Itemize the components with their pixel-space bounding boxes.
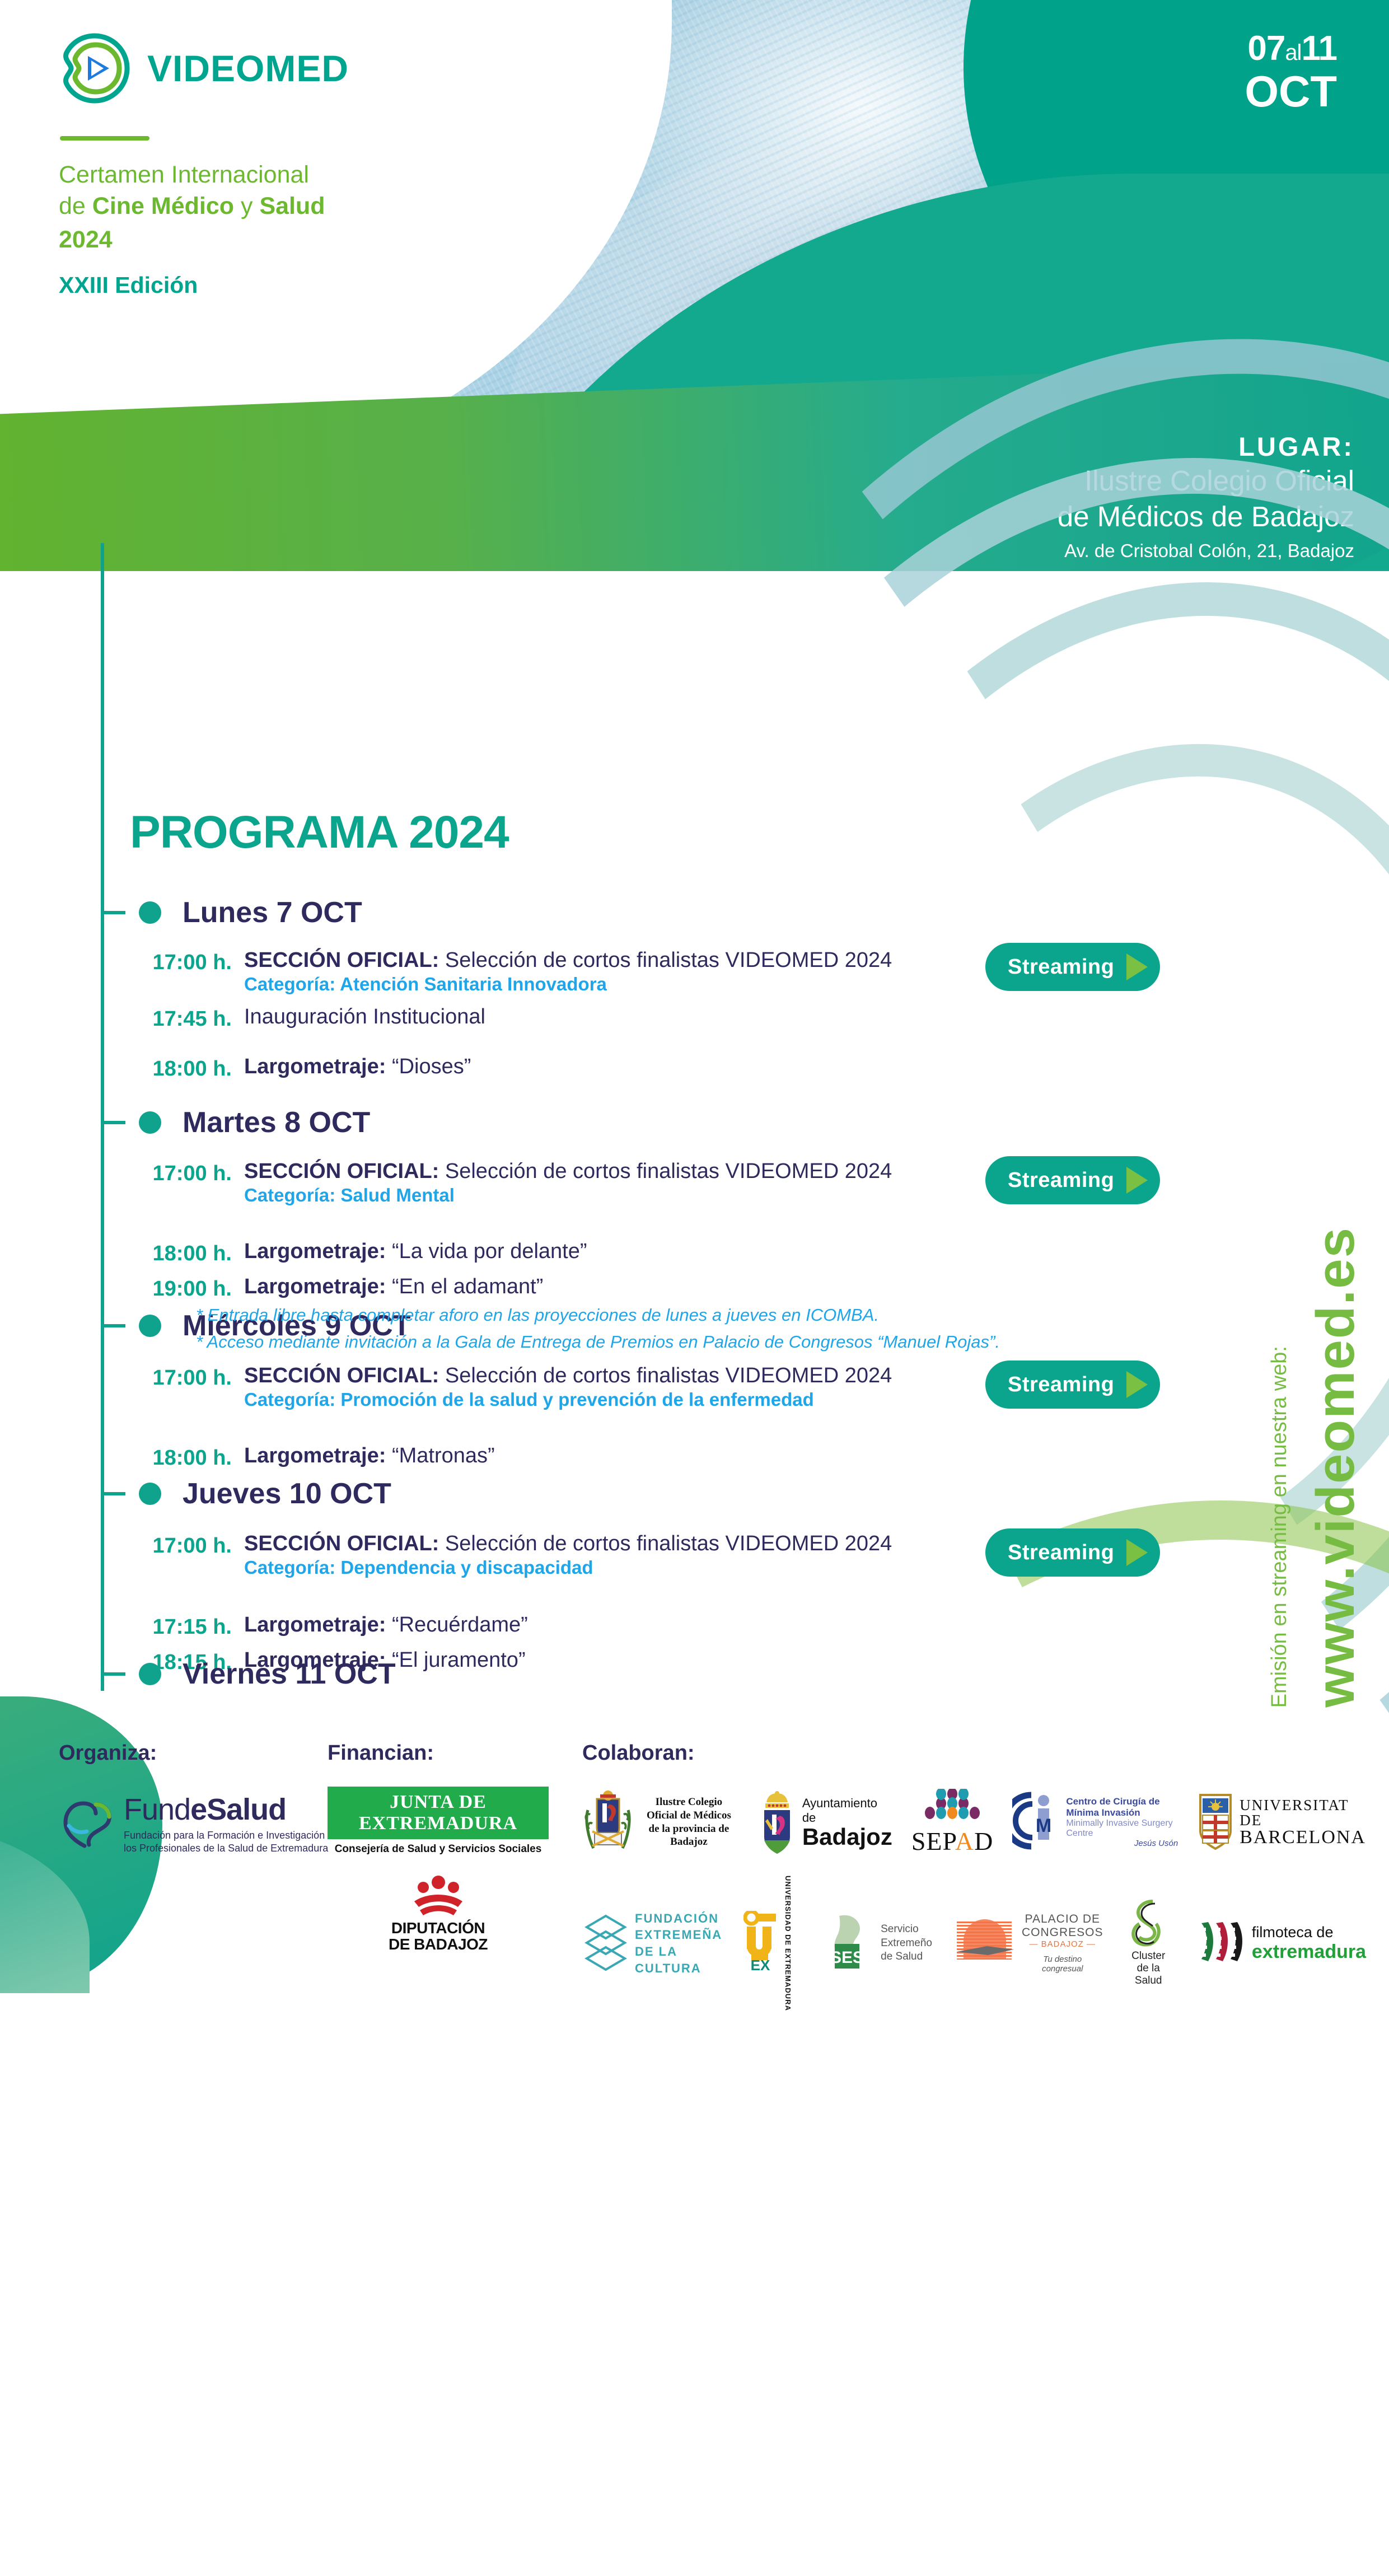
day-block-jueves: Jueves 10 OCT 17:00 h. SECCIÓN OFICIAL: … — [113, 1477, 892, 1675]
row-time: 17:00 h. — [113, 1160, 232, 1186]
ses-logo: SES Servicio Extremeño de Salud — [830, 1913, 932, 1974]
tagline-edition: XXIII Edición — [59, 270, 462, 300]
row-desc-text: “En el adamant” — [386, 1275, 543, 1298]
timeline-dot — [139, 1483, 161, 1505]
fundesalud-sub-1: Fundación para la Formación e Investigac… — [124, 1829, 339, 1842]
row-desc: SECCIÓN OFICIAL: Selección de cortos fin… — [244, 1532, 892, 1578]
row-desc-text: “Matronas” — [386, 1444, 494, 1467]
videomed-logo: VIDEOMED — [59, 32, 349, 104]
row-desc-bold: SECCIÓN OFICIAL: — [244, 1364, 439, 1387]
logo-divider-rule — [60, 136, 149, 141]
day-header: Lunes 7 OCT — [113, 896, 892, 929]
schedule-row: 18:00 h. Largometraje: “La vida por dela… — [113, 1240, 892, 1266]
day-header: Jueves 10 OCT — [113, 1477, 892, 1511]
badajoz-crest-icon — [757, 1788, 797, 1857]
row-time: 18:00 h. — [113, 1055, 232, 1081]
fundacion-extremena-cultura-logo: FUNDACIÓN EXTREMEÑA DE LA CULTURA — [582, 1910, 722, 1977]
ub-line-1: UNIVERSITAT DE — [1240, 1798, 1366, 1828]
row-desc-text: “Recuérdame” — [386, 1613, 527, 1637]
day-rows: 17:00 h. SECCIÓN OFICIAL: Selección de c… — [113, 1160, 892, 1301]
day-rows: 17:00 h. SECCIÓN OFICIAL: Selección de c… — [113, 1364, 892, 1470]
ses-line-1: Servicio — [881, 1923, 932, 1937]
ayuntamiento-line-2: Badajoz — [802, 1825, 892, 1849]
row-desc-bold: SECCIÓN OFICIAL: — [244, 1532, 439, 1555]
row-time: 18:00 h. — [113, 1444, 232, 1470]
ub-crest-icon — [1197, 1792, 1234, 1853]
ses-mark-icon: SES — [830, 1913, 875, 1974]
row-desc-bold: Largometraje: — [244, 1613, 386, 1637]
fec-mark-icon — [582, 1913, 629, 1974]
note-1: * Entrada libre hasta completar aforo en… — [196, 1302, 1000, 1329]
row-desc-text: Selección de cortos finalistas VIDEOMED … — [439, 1364, 892, 1387]
row-time: 17:00 h. — [113, 1364, 232, 1390]
row-desc-bold: Largometraje: — [244, 1240, 386, 1263]
program-timeline-line — [101, 543, 104, 1691]
junta-title: JUNTA DE EXTREMADURA — [328, 1787, 549, 1839]
icomba-line-2: de la provincia de Badajoz — [639, 1822, 738, 1849]
filmoteca-line-2: extremadura — [1252, 1941, 1366, 1963]
cluster-caption: Cluster de la Salud — [1125, 1950, 1172, 1987]
colaboran-row-2: FUNDACIÓN EXTREMEÑA DE LA CULTURA EX — [582, 1876, 1366, 2011]
diputacion-mark-icon — [402, 1910, 475, 1919]
palacio-mark-icon — [953, 1915, 1016, 1971]
organiza-column: Organiza: FundeSalud Fundación para la F… — [59, 1741, 339, 1854]
icomba-line-1: Ilustre Colegio Oficial de Médicos — [639, 1796, 738, 1822]
row-category: Categoría: Promoción de la salud y preve… — [244, 1389, 892, 1410]
row-desc-text: Selección de cortos finalistas VIDEOMED … — [439, 1532, 892, 1555]
cluster-mark-icon — [1126, 1940, 1171, 1949]
day-header: Martes 8 OCT — [113, 1106, 892, 1139]
sepad-wordmark: SEPAD — [911, 1826, 994, 1856]
diputacion-line-2: DE BADAJOZ — [328, 1936, 549, 1952]
colaboran-column: Colaboran: — [582, 1741, 1366, 2011]
schedule-row: 17:15 h. Largometraje: “Recuérdame” — [113, 1613, 892, 1639]
day-block-martes: Martes 8 OCT 17:00 h. SECCIÓN OFICIAL: S… — [113, 1106, 892, 1301]
palacio-line-2: — BADAJOZ — — [1022, 1939, 1103, 1949]
fundesalud-sub-2: los Profesionales de la Salud de Extrema… — [124, 1842, 339, 1855]
row-desc-bold: Largometraje: — [244, 1055, 386, 1078]
icomba-caption: Ilustre Colegio Oficial de Médicos de la… — [639, 1796, 738, 1849]
fundesalud-mark-icon — [59, 1794, 117, 1853]
filmoteca-text: filmoteca de extremadura — [1252, 1924, 1366, 1963]
row-desc-bold: Largometraje: — [244, 1275, 386, 1298]
row-desc: Largometraje: “Recuérdame” — [244, 1613, 528, 1637]
palacio-text: PALACIO DE CONGRESOS — BADAJOZ — Tu dest… — [1022, 1913, 1103, 1974]
ayuntamiento-badajoz-logo: Ayuntamiento de Badajoz — [757, 1788, 892, 1857]
timeline-dash — [101, 1672, 125, 1676]
palacio-line-1: PALACIO DE CONGRESOS — [1022, 1913, 1103, 1939]
note-2: * Acceso mediante invitación a la Gala d… — [196, 1329, 1000, 1355]
streaming-label: Streaming — [1008, 1541, 1114, 1565]
financian-label: Financian: — [328, 1741, 549, 1765]
streaming-badge[interactable]: Streaming — [985, 1528, 1160, 1577]
day-header: Viernes 11 OCT — [113, 1657, 760, 1691]
ccmi-line-3: Jesús Usón — [1066, 1839, 1178, 1848]
ccmi-line-2: Minimally Invasive Surgery Centre — [1066, 1818, 1178, 1839]
ccmi-text: Centro de Cirugía de Mínima Invasión Min… — [1066, 1796, 1178, 1848]
schedule-row: 17:00 h. SECCIÓN OFICIAL: Selección de c… — [113, 948, 892, 995]
event-dates: 07al11 OCT — [1245, 31, 1337, 113]
fundesalud-logo: FundeSalud Fundación para la Formación e… — [59, 1792, 339, 1854]
play-icon — [1126, 953, 1148, 980]
uex-mark-icon: EX — [743, 1911, 778, 1975]
website-url[interactable]: www.videomed.es — [1305, 1227, 1367, 1708]
row-category: Categoría: Atención Sanitaria Innovadora — [244, 974, 892, 995]
row-desc: SECCIÓN OFICIAL: Selección de cortos fin… — [244, 948, 892, 995]
svg-text:M: M — [1036, 1815, 1051, 1836]
ses-line-2: Extremeño — [881, 1937, 932, 1951]
play-icon — [1126, 1371, 1148, 1398]
icomba-crest-icon — [582, 1788, 634, 1857]
date-range: 07al11 — [1245, 31, 1337, 66]
page-title: PROGRAMA 2024 — [130, 806, 509, 859]
day-block-lunes: Lunes 7 OCT 17:00 h. SECCIÓN OFICIAL: Se… — [113, 896, 892, 1081]
tagline-line-2: de Cine Médico y Salud — [59, 191, 462, 222]
schedule-row: 17:00 h. SECCIÓN OFICIAL: Selección de c… — [113, 1532, 892, 1578]
row-time: 17:00 h. — [113, 1532, 232, 1558]
fundesalud-text: FundeSalud Fundación para la Formación e… — [124, 1792, 339, 1854]
timeline-dot — [139, 1663, 161, 1685]
financian-column: Financian: JUNTA DE EXTREMADURA Consejer… — [328, 1741, 549, 1953]
fec-line-1: FUNDACIÓN — [635, 1910, 722, 1927]
row-time: 17:15 h. — [113, 1613, 232, 1639]
diputacion-line-1: DIPUTACIÓN — [328, 1920, 549, 1936]
schedule-row: 17:00 h. SECCIÓN OFICIAL: Selección de c… — [113, 1364, 892, 1410]
streaming-label: Streaming — [1008, 955, 1114, 979]
ayuntamiento-line-1: Ayuntamiento de — [802, 1796, 892, 1825]
program-notes: * Entrada libre hasta completar aforo en… — [196, 1302, 1000, 1355]
timeline-dot — [139, 901, 161, 924]
filmoteca-mark-icon — [1194, 1918, 1246, 1969]
fec-text: FUNDACIÓN EXTREMEÑA DE LA CULTURA — [635, 1910, 722, 1977]
ccmi-logo: M Centro de Cirugía de Mínima Invasión M… — [1012, 1792, 1178, 1853]
date-month: OCT — [1245, 69, 1337, 113]
timeline-dot — [139, 1315, 161, 1337]
svg-text:EX: EX — [751, 1957, 770, 1972]
row-desc-bold: Largometraje: — [244, 1444, 386, 1467]
streaming-label: Streaming — [1008, 1373, 1114, 1397]
day-title: Jueves 10 OCT — [183, 1477, 391, 1511]
row-time: 18:00 h. — [113, 1240, 232, 1266]
fec-line-3: DE LA — [635, 1943, 722, 1960]
universitat-barcelona-logo: UNIVERSITAT DE BARCELONA — [1197, 1792, 1366, 1853]
videomed-wordmark: VIDEOMED — [147, 47, 349, 90]
colaboran-label: Colaboran: — [582, 1741, 1366, 1765]
sepad-mark-icon — [919, 1816, 986, 1826]
play-icon — [1126, 1539, 1148, 1566]
row-desc: Largometraje: “Matronas” — [244, 1444, 495, 1468]
videomed-play-logo-icon — [59, 32, 130, 104]
row-desc-text: “La vida por delante” — [386, 1240, 587, 1263]
schedule-row: 17:45 h. Inauguración Institucional — [113, 1005, 892, 1031]
schedule-row: 19:00 h. Largometraje: “En el adamant” — [113, 1275, 892, 1301]
day-rows: 17:00 h. SECCIÓN OFICIAL: Selección de c… — [113, 1532, 892, 1675]
streaming-badge[interactable]: Streaming — [985, 1361, 1160, 1409]
timeline-dash — [101, 1492, 125, 1495]
ccmi-mark-icon: M — [1012, 1792, 1060, 1853]
row-desc: Largometraje: “Dioses” — [244, 1055, 471, 1079]
junta-subtitle: Consejería de Salud y Servicios Sociales — [328, 1843, 549, 1855]
row-desc-text: Selección de cortos finalistas VIDEOMED … — [439, 948, 892, 972]
uex-side-text: UNIVERSIDAD DE EXTREMADURA — [784, 1876, 792, 2011]
uex-logo: EX UNIVERSIDAD DE EXTREMADURA — [743, 1876, 809, 2011]
row-category: Categoría: Dependencia y discapacidad — [244, 1557, 892, 1578]
row-time: 17:00 h. — [113, 948, 232, 975]
ses-line-3: de Salud — [881, 1950, 932, 1964]
sepad-logo: SEPAD — [911, 1789, 994, 1856]
day-title: Martes 8 OCT — [183, 1106, 370, 1139]
ub-text: UNIVERSITAT DE BARCELONA — [1240, 1798, 1366, 1847]
ccmi-line-1: Centro de Cirugía de Mínima Invasión — [1066, 1796, 1178, 1818]
row-desc-bold: SECCIÓN OFICIAL: — [244, 1160, 439, 1183]
row-time: 19:00 h. — [113, 1275, 232, 1301]
event-tagline: Certamen Internacional de Cine Médico y … — [59, 160, 462, 300]
streaming-label: Streaming — [1008, 1168, 1114, 1193]
timeline-dash — [101, 1121, 125, 1124]
play-icon — [1126, 1167, 1148, 1194]
row-desc-text: “Dioses” — [386, 1055, 471, 1078]
day-title: Viernes 11 OCT — [183, 1657, 396, 1691]
filmoteca-extremadura-logo: filmoteca de extremadura — [1194, 1918, 1366, 1969]
palacio-line-3: Tu destino congresual — [1022, 1955, 1103, 1974]
day-rows: 17:00 h. SECCIÓN OFICIAL: Selección de c… — [113, 948, 892, 1081]
colaboran-row-1: Ilustre Colegio Oficial de Médicos de la… — [582, 1788, 1366, 1857]
ayuntamiento-text: Ayuntamiento de Badajoz — [802, 1796, 892, 1849]
fec-line-2: EXTREMEÑA — [635, 1927, 722, 1943]
fec-line-4: CULTURA — [635, 1960, 722, 1977]
streaming-badge[interactable]: Streaming — [985, 1156, 1160, 1204]
organiza-label: Organiza: — [59, 1741, 339, 1765]
filmoteca-line-1: filmoteca de — [1252, 1924, 1366, 1941]
ub-line-2: BARCELONA — [1240, 1828, 1366, 1847]
tagline-line-1: Certamen Internacional — [59, 160, 462, 191]
cluster-salud-logo: Cluster de la Salud — [1125, 1899, 1172, 1987]
diputacion-logo: DIPUTACIÓN DE BADAJOZ — [328, 1876, 549, 1953]
poster-footer: Organiza: FundeSalud Fundación para la F… — [0, 1713, 1389, 1965]
program-section: PROGRAMA 2024 Lunes 7 OCT 17:00 h. SECCI… — [0, 593, 1389, 1713]
timeline-dash — [101, 1324, 125, 1327]
fundesalud-name: FundeSalud — [124, 1793, 286, 1826]
schedule-row: 18:00 h. Largometraje: “Matronas” — [113, 1444, 892, 1470]
timeline-dash — [101, 911, 125, 914]
tagline-year: 2024 — [59, 225, 462, 256]
row-desc: SECCIÓN OFICIAL: Selección de cortos fin… — [244, 1160, 892, 1206]
row-desc: Largometraje: “La vida por delante” — [244, 1240, 587, 1264]
schedule-row: 18:00 h. Largometraje: “Dioses” — [113, 1055, 892, 1081]
row-desc: SECCIÓN OFICIAL: Selección de cortos fin… — [244, 1364, 892, 1410]
junta-logo: JUNTA DE EXTREMADURA Consejería de Salud… — [328, 1787, 549, 1855]
row-desc-text: Selección de cortos finalistas VIDEOMED … — [439, 1160, 892, 1183]
day-title: Lunes 7 OCT — [183, 896, 362, 929]
row-desc: Largometraje: “En el adamant” — [244, 1275, 543, 1299]
row-desc-bold: SECCIÓN OFICIAL: — [244, 948, 439, 972]
timeline-dot — [139, 1111, 161, 1134]
row-category: Categoría: Salud Mental — [244, 1185, 892, 1206]
row-time: 17:45 h. — [113, 1005, 232, 1031]
ses-text: Servicio Extremeño de Salud — [881, 1923, 932, 1964]
palacio-congresos-logo: PALACIO DE CONGRESOS — BADAJOZ — Tu dest… — [953, 1913, 1103, 1974]
schedule-row: 17:00 h. SECCIÓN OFICIAL: Selección de c… — [113, 1160, 892, 1206]
icomba-logo: Ilustre Colegio Oficial de Médicos de la… — [582, 1788, 738, 1857]
streaming-badge[interactable]: Streaming — [985, 943, 1160, 991]
row-desc: Inauguración Institucional — [244, 1005, 485, 1029]
website-prefix: Emisión en streaming en nuestra web: — [1268, 1346, 1292, 1708]
